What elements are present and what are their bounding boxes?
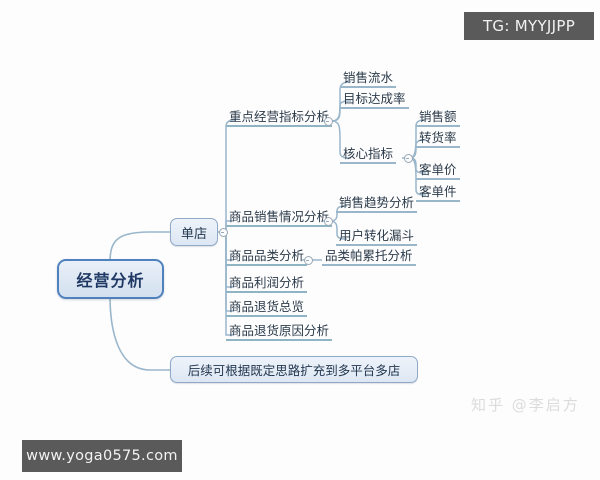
node-user-conversion-funnel[interactable]: 用户转化漏斗 — [336, 229, 417, 246]
root-node-label: 经营分析 — [76, 267, 144, 291]
collapse-handle-single-store[interactable] — [219, 228, 228, 237]
telegram-watermark-text: TG: MYYJJPP — [483, 17, 575, 35]
node-target-achievement-rate[interactable]: 目标达成率 — [340, 92, 409, 109]
node-average-order-value[interactable]: 客单价 — [416, 163, 460, 180]
node-core-metrics[interactable]: 核心指标 — [340, 147, 396, 164]
node-sales-amount-label: 销售额 — [419, 109, 457, 124]
node-product-category-analysis-label: 商品品类分析 — [229, 248, 304, 263]
root-node-business-analysis[interactable]: 经营分析 — [57, 259, 164, 299]
node-target-achievement-rate-label: 目标达成率 — [343, 91, 406, 106]
zhihu-watermark-text: 知乎 @李启方 — [471, 396, 580, 414]
node-sales-trend-analysis[interactable]: 销售趋势分析 — [336, 196, 417, 213]
node-single-store-label: 单店 — [181, 223, 207, 242]
mindmap-canvas: 经营分析 单店 后续可根据既定思路扩充到多平台多店 重点经营指标分析 商品销售情… — [0, 0, 600, 480]
node-conversion-rate[interactable]: 转货率 — [416, 131, 460, 148]
node-key-business-metrics-analysis-label: 重点经营指标分析 — [229, 109, 329, 124]
node-key-business-metrics-analysis[interactable]: 重点经营指标分析 — [226, 110, 332, 127]
node-sales-revenue-flow-label: 销售流水 — [343, 70, 393, 85]
node-items-per-order-label: 客单件 — [419, 184, 457, 199]
node-product-sales-status-analysis-label: 商品销售情况分析 — [229, 209, 329, 224]
site-watermark-text: www.yoga0575.com — [26, 448, 178, 464]
telegram-watermark: TG: MYYJJPP — [464, 12, 594, 40]
node-category-pareto-analysis-label: 品类帕累托分析 — [325, 248, 413, 263]
collapse-handle-core-metrics[interactable] — [404, 154, 413, 163]
node-product-return-reason-analysis-label: 商品退货原因分析 — [229, 323, 329, 338]
node-sales-revenue-flow[interactable]: 销售流水 — [340, 71, 396, 88]
collapse-handle-key-business-metrics[interactable] — [324, 117, 333, 126]
collapse-handle-product-category[interactable] — [304, 256, 313, 265]
node-product-sales-status-analysis[interactable]: 商品销售情况分析 — [226, 210, 332, 227]
node-product-profit-analysis-label: 商品利润分析 — [229, 275, 304, 290]
node-future-expansion-label: 后续可根据既定思路扩充到多平台多店 — [188, 360, 401, 379]
node-category-pareto-analysis[interactable]: 品类帕累托分析 — [322, 249, 416, 266]
node-average-order-value-label: 客单价 — [419, 162, 457, 177]
node-conversion-rate-label: 转货率 — [419, 130, 457, 145]
zhihu-watermark: 知乎 @李启方 — [471, 394, 580, 415]
node-user-conversion-funnel-label: 用户转化漏斗 — [339, 228, 414, 243]
node-core-metrics-label: 核心指标 — [343, 146, 393, 161]
node-sales-amount[interactable]: 销售额 — [416, 110, 460, 127]
site-watermark: www.yoga0575.com — [22, 440, 182, 472]
node-product-return-reason-analysis[interactable]: 商品退货原因分析 — [226, 324, 332, 341]
collapse-handle-product-sales-status[interactable] — [324, 217, 333, 226]
node-sales-trend-analysis-label: 销售趋势分析 — [339, 195, 414, 210]
node-product-profit-analysis[interactable]: 商品利润分析 — [226, 276, 307, 293]
node-future-expansion-note[interactable]: 后续可根据既定思路扩充到多平台多店 — [170, 356, 418, 383]
node-product-return-overview[interactable]: 商品退货总览 — [226, 300, 307, 317]
node-items-per-order[interactable]: 客单件 — [416, 185, 460, 202]
node-single-store[interactable]: 单店 — [170, 218, 218, 246]
node-product-return-overview-label: 商品退货总览 — [229, 299, 304, 314]
node-product-category-analysis[interactable]: 商品品类分析 — [226, 249, 307, 266]
